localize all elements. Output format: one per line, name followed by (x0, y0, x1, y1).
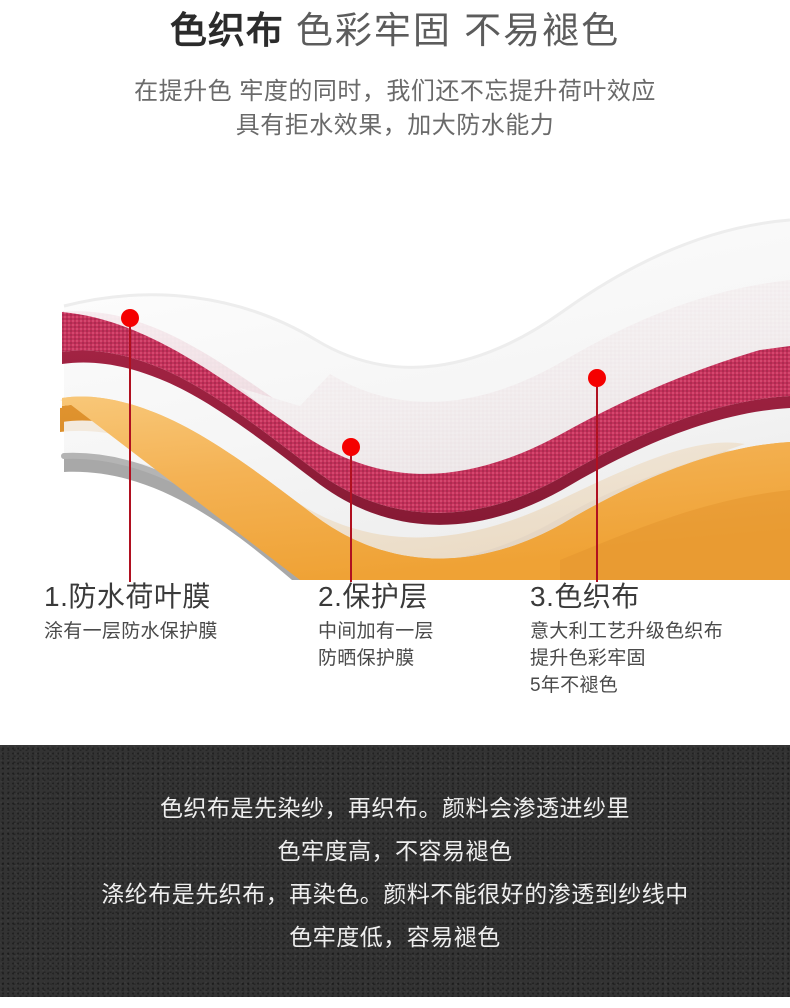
callout-desc-3-line-1: 意大利工艺升级色织布 (530, 618, 780, 645)
callout-desc-1-line-1: 涂有一层防水保护膜 (44, 618, 294, 645)
marker-dot-1[interactable] (121, 309, 139, 327)
footer-line-4: 色牢度低，容易褪色 (0, 916, 790, 959)
callout-title-1: 1.防水荷叶膜 (44, 580, 294, 614)
footer-line-2: 色牢度高，不容易褪色 (0, 830, 790, 873)
fabric-layers-svg (0, 160, 790, 580)
title-strong: 色织布 (170, 10, 284, 51)
footer-line-3: 涤纶布是先织布，再染色。颜料不能很好的渗透到纱线中 (0, 873, 790, 916)
marker-dot-3[interactable] (588, 369, 606, 387)
footer-line-1: 色织布是先染纱，再织布。颜料会渗透进纱里 (0, 787, 790, 830)
callout-desc-3: 意大利工艺升级色织布 提升色彩牢固 5年不褪色 (530, 618, 780, 699)
page-title: 色织布色彩牢固 不易褪色 (0, 12, 790, 49)
callout-label-1: 1.防水荷叶膜 涂有一层防水保护膜 (44, 580, 294, 645)
header-section: 色织布色彩牢固 不易褪色 在提升色 牢度的同时，我们还不忘提升荷叶效应 具有拒水… (0, 0, 790, 160)
callout-desc-2-line-1: 中间加有一层 (318, 618, 518, 645)
footer-description: 色织布是先染纱，再织布。颜料会渗透进纱里 色牢度高，不容易褪色 涤纶布是先织布，… (0, 787, 790, 959)
callout-title-2: 2.保护层 (318, 580, 518, 614)
subtitle-line-2: 具有拒水效果，加大防水能力 (0, 109, 790, 143)
title-light: 色彩牢固 不易褪色 (296, 10, 620, 51)
marker-dot-2[interactable] (342, 438, 360, 456)
callout-desc-3-line-3: 5年不褪色 (530, 672, 780, 699)
callout-desc-1: 涂有一层防水保护膜 (44, 618, 294, 645)
callout-label-2: 2.保护层 中间加有一层 防晒保护膜 (318, 580, 518, 672)
product-detail-page: 色织布色彩牢固 不易褪色 在提升色 牢度的同时，我们还不忘提升荷叶效应 具有拒水… (0, 0, 790, 1008)
subtitle-line-1: 在提升色 牢度的同时，我们还不忘提升荷叶效应 (0, 75, 790, 109)
callout-desc-2: 中间加有一层 防晒保护膜 (318, 618, 518, 672)
fabric-layers-illustration (0, 160, 790, 580)
bottom-white-strip (0, 997, 790, 1008)
callout-desc-3-line-2: 提升色彩牢固 (530, 645, 780, 672)
callout-desc-2-line-2: 防晒保护膜 (318, 645, 518, 672)
callout-title-3: 3.色织布 (530, 580, 780, 614)
callout-labels: 1.防水荷叶膜 涂有一层防水保护膜 2.保护层 中间加有一层 防晒保护膜 3.色… (0, 580, 790, 745)
page-subtitle: 在提升色 牢度的同时，我们还不忘提升荷叶效应 具有拒水效果，加大防水能力 (0, 75, 790, 143)
footer-section: 色织布是先染纱，再织布。颜料会渗透进纱里 色牢度高，不容易褪色 涤纶布是先织布，… (0, 745, 790, 997)
callout-label-3: 3.色织布 意大利工艺升级色织布 提升色彩牢固 5年不褪色 (530, 580, 780, 699)
